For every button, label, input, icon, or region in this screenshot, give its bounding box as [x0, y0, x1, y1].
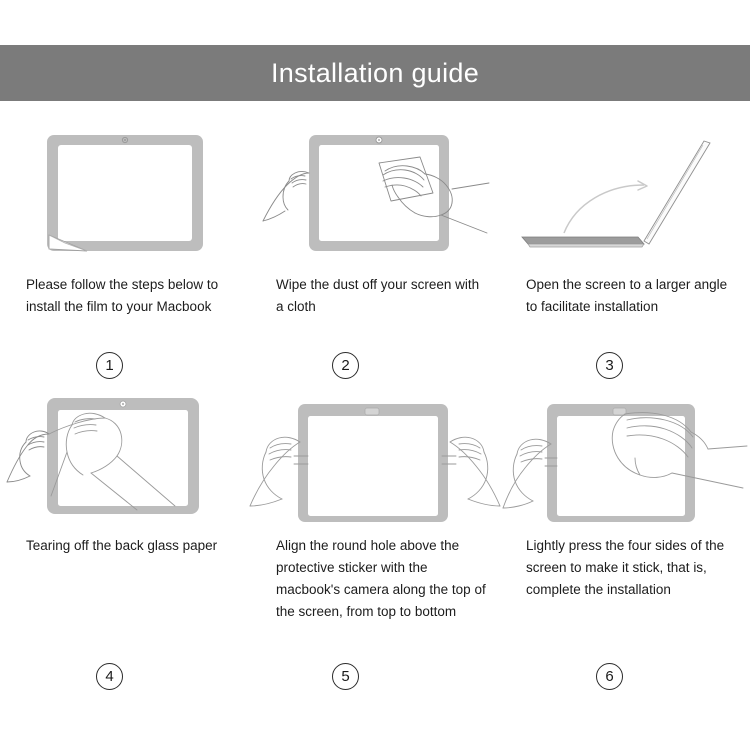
step-illustration-6: [500, 379, 750, 529]
step-number-badge-2: 2: [332, 352, 359, 379]
step-caption-3: Open the screen to a larger angle to fac…: [500, 274, 750, 352]
step-caption-6: Lightly press the four sides of the scre…: [500, 535, 750, 663]
step-card-5: Align the round hole above the protectiv…: [250, 379, 500, 690]
hand-pressing-film-onto-screen-icon: [503, 384, 748, 524]
laptop-side-profile-opening-angle-arrow-icon: [508, 123, 743, 263]
steps-grid: Please follow the steps below to install…: [0, 118, 750, 690]
step-caption-5: Align the round hole above the protectiv…: [250, 535, 500, 663]
hands-wiping-screen-with-cloth-icon: [255, 123, 495, 263]
step-illustration-3: [500, 118, 750, 268]
step-illustration-5: [250, 379, 500, 529]
two-hands-aligning-film-to-screen-icon: [250, 384, 500, 524]
step-badge-row-2: 2: [250, 352, 500, 379]
step-illustration-4: [0, 379, 250, 529]
step-card-2: Wipe the dust off your screen with a clo…: [250, 118, 500, 379]
step-number-badge-5: 5: [332, 663, 359, 690]
step-badge-row-6: 6: [500, 663, 750, 690]
step-number-badge-3: 3: [596, 352, 623, 379]
step-caption-1: Please follow the steps below to install…: [0, 274, 250, 352]
step-caption-2: Wipe the dust off your screen with a clo…: [250, 274, 500, 352]
header-banner: Installation guide: [0, 45, 750, 101]
step-illustration-2: [250, 118, 500, 268]
step-illustration-1: [0, 118, 250, 268]
step-caption-4: Tearing off the back glass paper: [0, 535, 250, 663]
step-number-badge-4: 4: [96, 663, 123, 690]
step-badge-row-4: 4: [0, 663, 250, 690]
step-number-badge-6: 6: [596, 663, 623, 690]
step-badge-row-5: 5: [250, 663, 500, 690]
step-badge-row-1: 1: [0, 352, 250, 379]
step-card-1: Please follow the steps below to install…: [0, 118, 250, 379]
hand-tearing-back-glass-paper-icon: [5, 384, 245, 524]
macbook-screen-with-peeling-film-corner-icon: [25, 123, 225, 263]
step-card-6: Lightly press the four sides of the scre…: [500, 379, 750, 690]
step-card-4: Tearing off the back glass paper 4: [0, 379, 250, 690]
step-number-badge-1: 1: [96, 352, 123, 379]
page-title: Installation guide: [271, 60, 479, 87]
step-card-3: Open the screen to a larger angle to fac…: [500, 118, 750, 379]
step-badge-row-3: 3: [500, 352, 750, 379]
